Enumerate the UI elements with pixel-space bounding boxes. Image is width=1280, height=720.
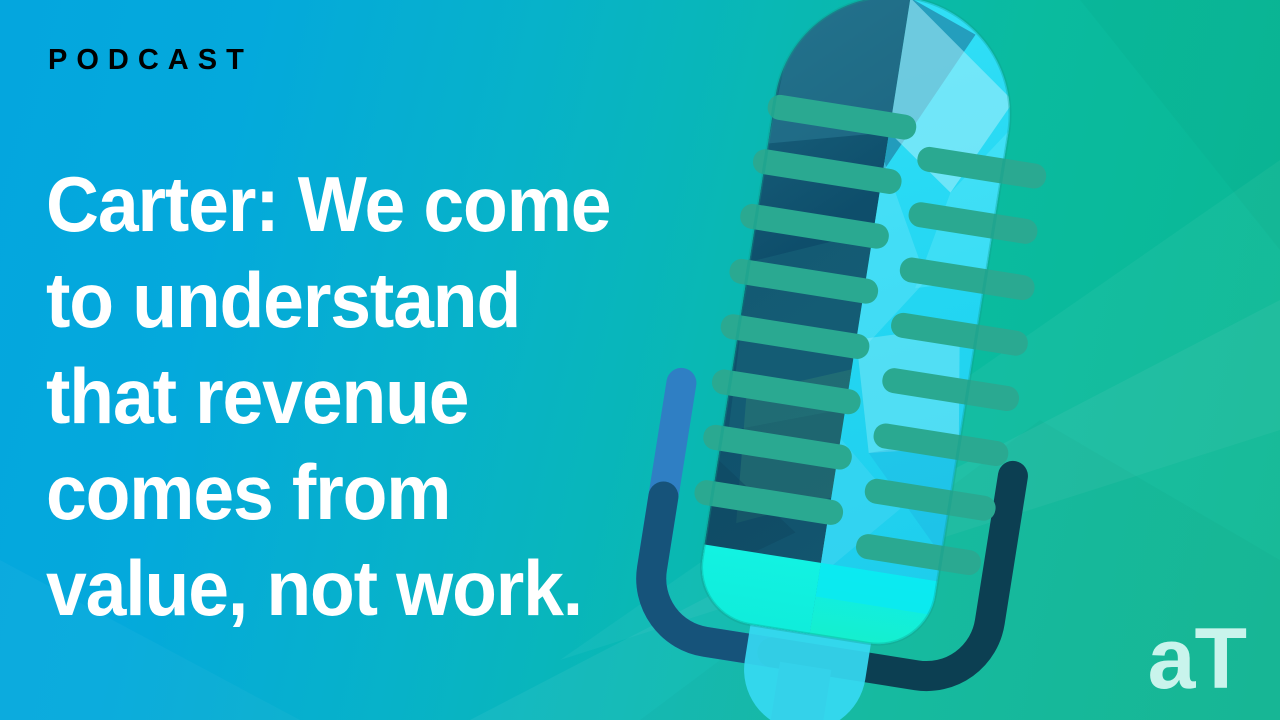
kicker-podcast-label: PODCAST — [48, 40, 253, 80]
headline-line-2: to understand — [46, 252, 704, 348]
headline-line-5: value, not work. — [46, 540, 704, 636]
page-title: Carter: We come to understand that reven… — [46, 156, 704, 636]
podcast-quote-card: PODCAST Carter: We come to understand th… — [0, 0, 1280, 720]
brand-logo-at: aT — [1148, 616, 1246, 702]
headline-line-1: Carter: We come — [46, 156, 704, 252]
headline-line-3: that revenue — [46, 348, 704, 444]
headline-line-4: comes from — [46, 444, 704, 540]
